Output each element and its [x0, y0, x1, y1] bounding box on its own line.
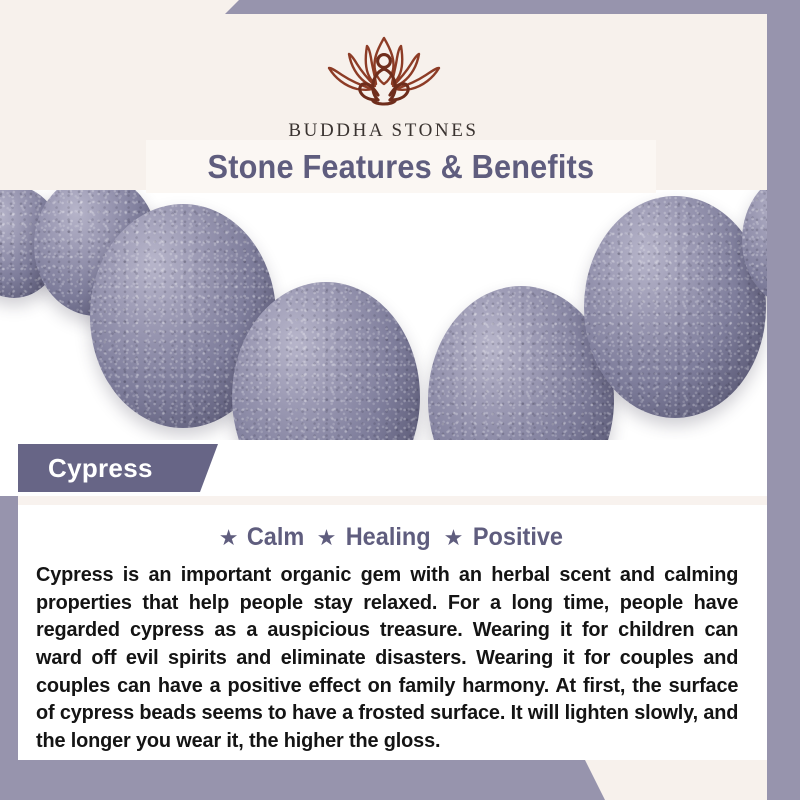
brand-logo: BUDDHA STONES: [0, 30, 767, 142]
stone-name-tag: Cypress: [18, 444, 218, 492]
star-icon: ★: [444, 527, 464, 549]
frame-right-bar: [767, 0, 800, 800]
stone-name-label: Cypress: [48, 453, 153, 484]
poster-root: BUDDHA STONES Stone Features & Benefits …: [0, 0, 800, 800]
brand-name: BUDDHA STONES: [288, 120, 478, 142]
description-text: Cypress is an important organic gem with…: [36, 562, 738, 756]
frame-bottom-bar: [0, 760, 800, 800]
keyword-item-positive: ★ Positive: [444, 523, 567, 552]
product-photo: [0, 190, 767, 440]
keyword-label: Healing: [346, 523, 431, 552]
star-icon: ★: [219, 527, 239, 549]
star-icon: ★: [317, 527, 337, 549]
keyword-label: Calm: [247, 523, 304, 552]
keyword-item-healing: ★ Healing: [317, 523, 434, 552]
keyword-list: ★ Calm ★ Healing ★ Positive: [18, 523, 767, 552]
keyword-label: Positive: [473, 523, 563, 552]
page-title: Stone Features & Benefits: [208, 148, 595, 186]
description-panel: ★ Calm ★ Healing ★ Positive Cypress is a…: [18, 505, 767, 760]
title-banner: Stone Features & Benefits: [146, 140, 656, 193]
lotus-meditation-icon: [309, 30, 459, 116]
keyword-item-calm: ★ Calm: [219, 523, 307, 552]
bead: [584, 196, 766, 418]
